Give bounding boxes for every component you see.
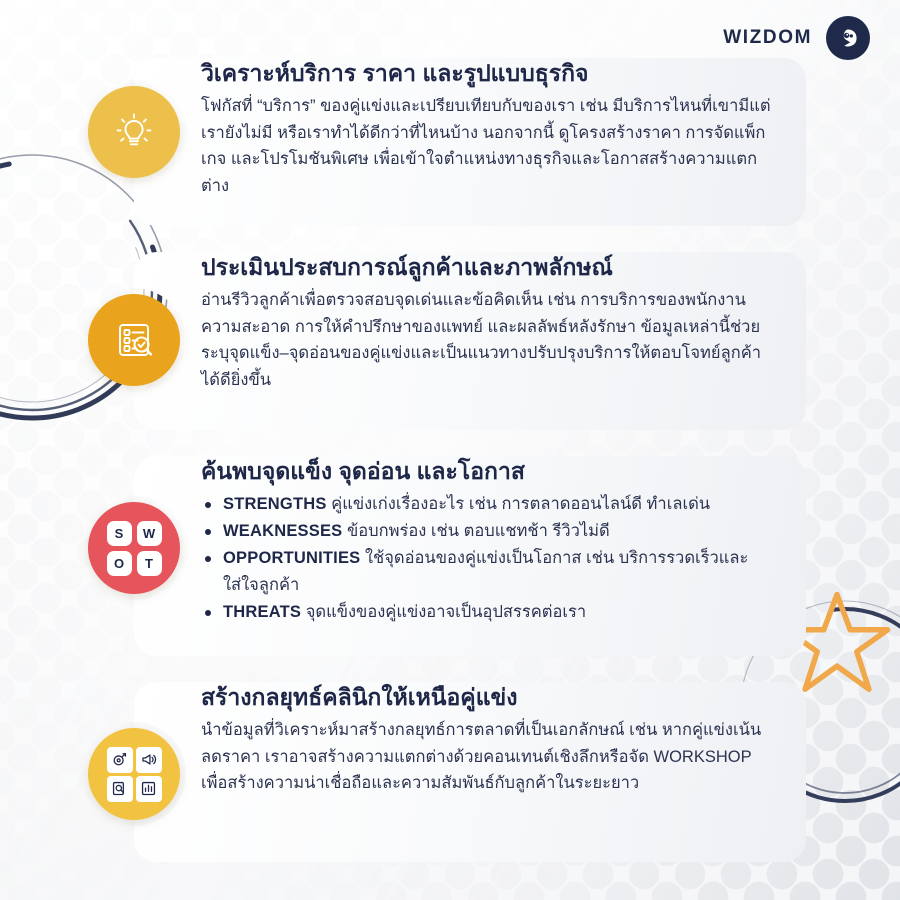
quad-cell-target — [107, 747, 133, 773]
strategy-quad-icon — [107, 747, 162, 802]
card-body: โฟกัสที่ “บริการ” ของคู่แข่งและเปรียบเที… — [201, 93, 772, 200]
quad-cell-search-doc — [107, 776, 133, 802]
card-row: ประเมินประสบการณ์ลูกค้าและภาพลักษณ์ อ่าน… — [88, 252, 806, 430]
checklist-search-icon — [110, 316, 158, 364]
lightbulb-icon — [110, 108, 158, 156]
swot-cell-o: O — [107, 551, 132, 576]
card-row: สร้างกลยุทธ์คลินิกให้เหนือคู่แข่ง นำข้อม… — [88, 682, 806, 862]
list-item: THREATS จุดแข็งของคู่แข่งอาจเป็นอุปสรรคต… — [201, 599, 772, 626]
quad-cell-bar-chart — [136, 776, 162, 802]
bullet-label: WEAKNESSES — [223, 522, 342, 540]
card-badge — [88, 86, 180, 178]
list-item: STRENGTHS คู่แข่งเก่งเรื่องอะไร เช่น การ… — [201, 491, 772, 518]
card-body: นำข้อมูลที่วิเคราะห์มาสร้างกลยุทธ์การตลา… — [201, 717, 772, 797]
swot-cell-t: T — [137, 551, 162, 576]
bullet-text: คู่แข่งเก่งเรื่องอะไร เช่น การตลาดออนไลน… — [331, 495, 710, 513]
card-badge — [88, 294, 180, 386]
bullet-label: STRENGTHS — [223, 495, 327, 513]
card-list: วิเคราะห์บริการ ราคา และรูปแบบธุรกิจ โฟก… — [0, 0, 900, 900]
list-item: WEAKNESSES ข้อบกพร่อง เช่น ตอบแชทช้า รีว… — [201, 518, 772, 545]
card-title: ค้นพบจุดแข็ง จุดอ่อน และโอกาส — [201, 456, 772, 487]
bullet-label: OPPORTUNITIES — [223, 549, 360, 567]
card-content: วิเคราะห์บริการ ราคา และรูปแบบธุรกิจ โฟก… — [201, 58, 806, 200]
header: WIZDOM — [723, 16, 870, 60]
quad-cell-megaphone — [136, 747, 162, 773]
card-title: สร้างกลยุทธ์คลินิกให้เหนือคู่แข่ง — [201, 682, 772, 713]
swot-bullet-list: STRENGTHS คู่แข่งเก่งเรื่องอะไร เช่น การ… — [201, 491, 772, 625]
card-content: ค้นพบจุดแข็ง จุดอ่อน และโอกาส STRENGTHS … — [201, 456, 806, 626]
swot-cell-s: S — [107, 521, 132, 546]
brand-name: WIZDOM — [723, 27, 812, 49]
swot-cell-w: W — [137, 521, 162, 546]
card-badge — [88, 728, 180, 820]
bullet-text: จุดแข็งของคู่แข่งอาจเป็นอุปสรรคต่อเรา — [306, 603, 586, 621]
card-body: อ่านรีวิวลูกค้าเพื่อตรวจสอบจุดเด่นและข้อ… — [201, 287, 772, 394]
card-content: ประเมินประสบการณ์ลูกค้าและภาพลักษณ์ อ่าน… — [201, 252, 806, 394]
card-row: S W O T ค้นพบจุดแข็ง จุดอ่อน และโอกาส ST… — [88, 456, 806, 656]
swot-icon: S W O T — [107, 521, 162, 576]
bullet-label: THREATS — [223, 603, 301, 621]
owl-mark-icon — [826, 16, 870, 60]
bullet-text: ข้อบกพร่อง เช่น ตอบแชทช้า รีวิวไม่ดี — [347, 522, 610, 540]
card-row: วิเคราะห์บริการ ราคา และรูปแบบธุรกิจ โฟก… — [88, 58, 806, 226]
card-title: วิเคราะห์บริการ ราคา และรูปแบบธุรกิจ — [201, 58, 772, 89]
card-badge: S W O T — [88, 502, 180, 594]
card-content: สร้างกลยุทธ์คลินิกให้เหนือคู่แข่ง นำข้อม… — [201, 682, 806, 797]
card-title: ประเมินประสบการณ์ลูกค้าและภาพลักษณ์ — [201, 252, 772, 283]
list-item: OPPORTUNITIES ใช้จุดอ่อนของคู่แข่งเป็นโอ… — [201, 545, 772, 599]
